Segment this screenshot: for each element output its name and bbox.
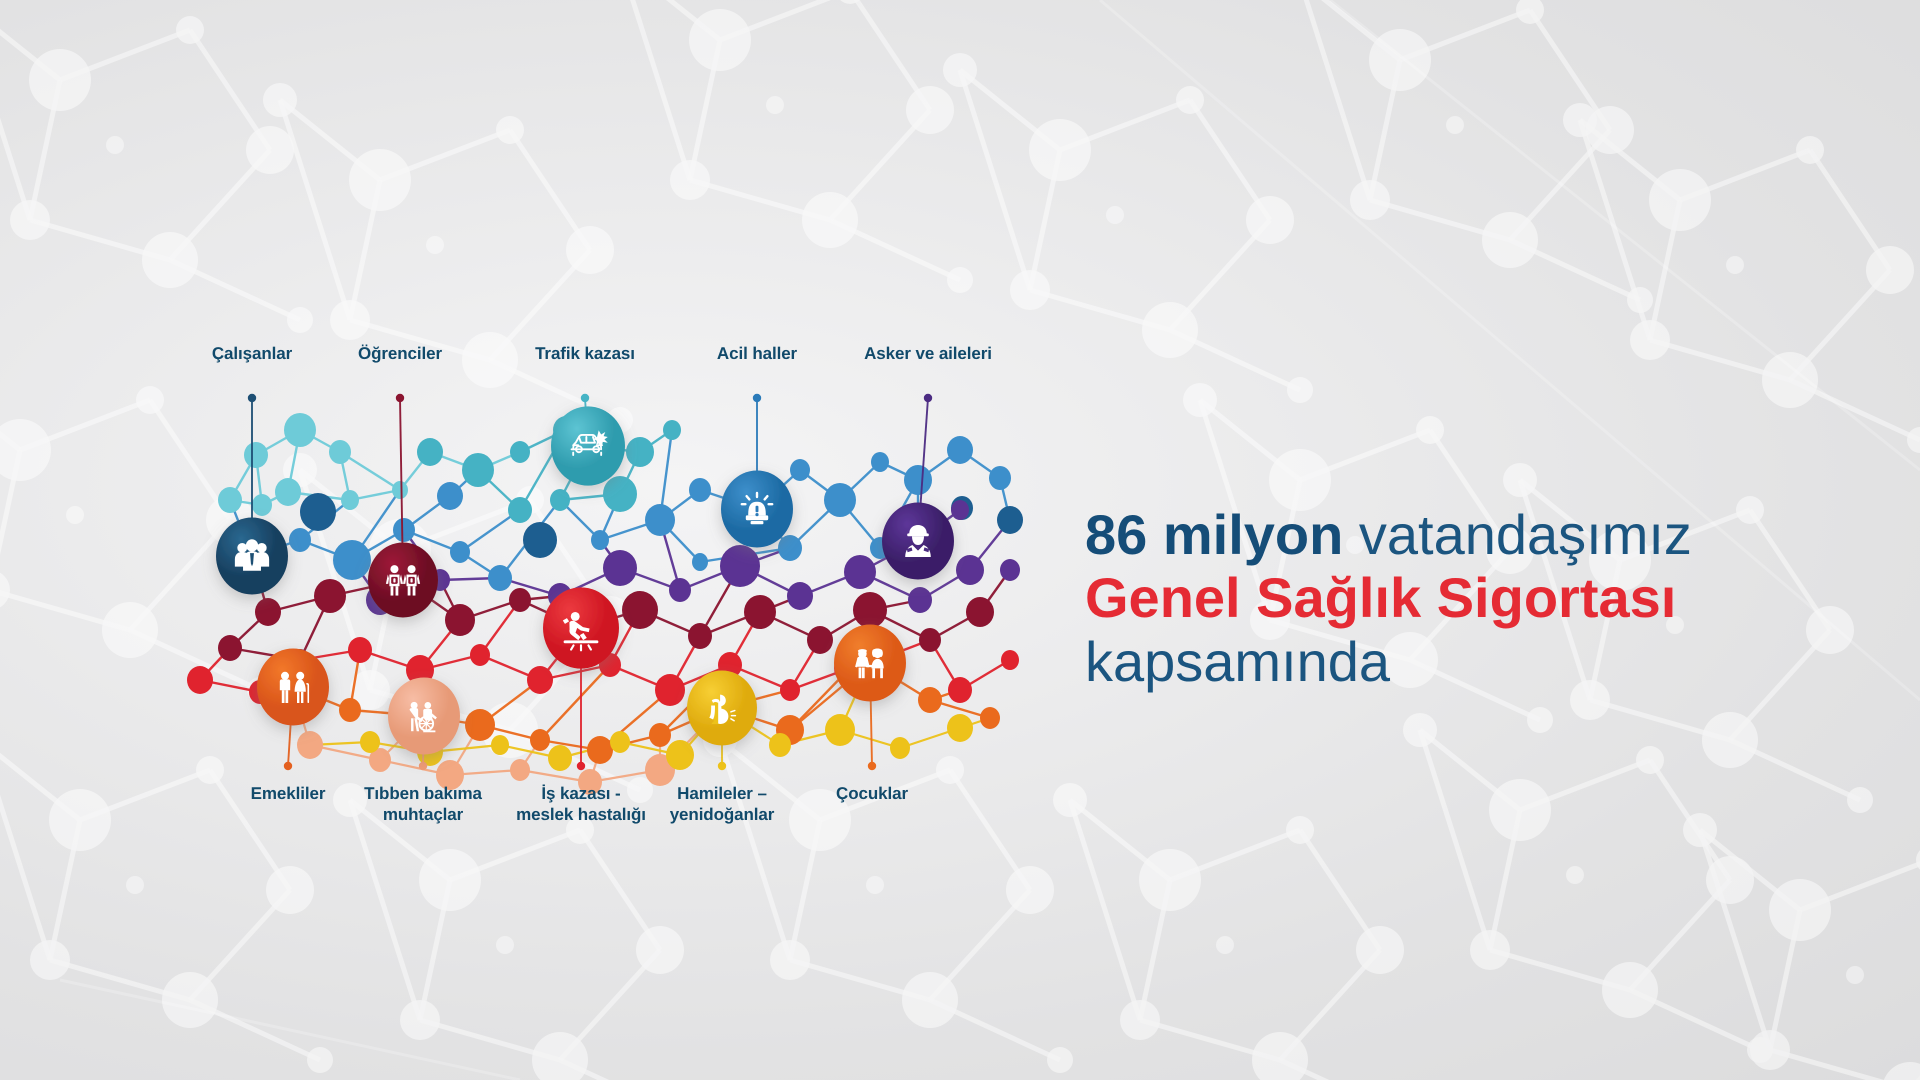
headline-line-2: Genel Sağlık Sigortası <box>1085 566 1845 629</box>
callout-label-emekliler: Emekliler <box>251 783 326 804</box>
callout-label-calisanlar: Çalışanlar <box>212 343 292 364</box>
icon-bubble-hamileler[interactable] <box>687 671 757 746</box>
icon-bubble-ogrenciler[interactable] <box>368 543 438 618</box>
icon-bubble-cocuklar[interactable] <box>834 624 906 701</box>
headline-number: 86 milyon <box>1085 503 1343 566</box>
icon-bubble-asker[interactable] <box>882 502 954 579</box>
callout-label-cocuklar: Çocuklar <box>836 783 908 804</box>
icon-bubble-acil[interactable] <box>721 470 793 547</box>
callout-label-is-kazasi: İş kazası - meslek hastalığı <box>516 783 646 826</box>
headline-line-1: 86 milyon vatandaşımız <box>1085 503 1845 566</box>
callout-label-acil: Acil haller <box>717 343 797 364</box>
callout-label-tibben: Tıbben bakıma muhtaçlar <box>364 783 482 826</box>
callout-label-trafik: Trafik kazası <box>535 343 635 364</box>
headline-line-1-rest: vatandaşımız <box>1343 503 1692 566</box>
headline: 86 milyon vatandaşımız Genel Sağlık Sigo… <box>1085 503 1845 693</box>
icon-bubble-emekliler[interactable] <box>257 648 329 725</box>
callout-label-ogrenciler: Öğrenciler <box>358 343 442 364</box>
icon-bubble-trafik[interactable] <box>551 406 625 485</box>
headline-line-3: kapsamında <box>1085 630 1845 693</box>
icon-bubble-tibben[interactable] <box>388 677 460 754</box>
callout-label-asker: Asker ve aileleri <box>864 343 992 364</box>
callout-label-hamileler: Hamileler – yenidoğanlar <box>670 783 775 826</box>
group-people-icon <box>235 539 269 570</box>
icon-bubble-is-kazasi[interactable] <box>543 587 619 668</box>
icon-bubble-calisanlar[interactable] <box>216 517 288 594</box>
